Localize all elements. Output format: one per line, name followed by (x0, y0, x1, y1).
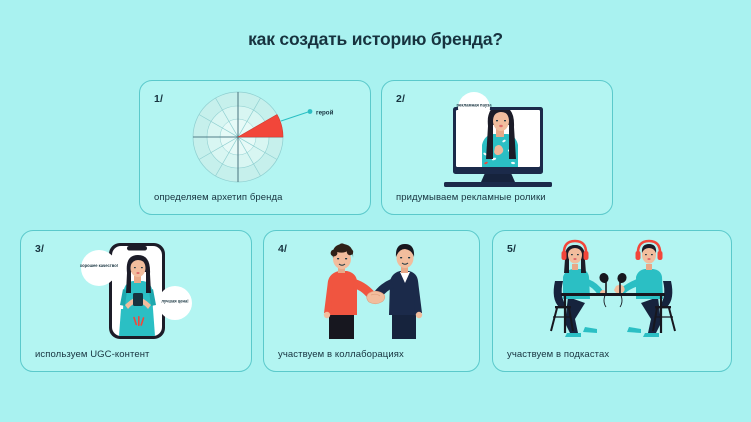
reviewer-skirt (119, 309, 155, 336)
annotation-connector-line (281, 112, 308, 121)
right-trousers (392, 313, 416, 339)
left-host-earcup-a (562, 251, 567, 260)
card-step-3[interactable]: 3/ (20, 230, 252, 372)
speech-bubble-quality-text: хорошее качество! (80, 263, 118, 268)
speech-bubble-line1: рекламная пауза (456, 103, 492, 108)
monitor-stand-neck (481, 173, 515, 182)
left-host-neck (572, 264, 578, 270)
left-hair-curl-c (338, 243, 345, 250)
right-host-earcup-a (636, 251, 641, 260)
left-host-shoe-b (583, 327, 597, 333)
left-hair-curl-b (347, 249, 353, 255)
smartphone-ugc-illustration: хорошее качество! лучшая цена! (21, 231, 253, 349)
card-step-1[interactable]: 1/ (139, 80, 371, 215)
monitor-stand-base (444, 182, 552, 187)
card-step-4[interactable]: 4/ (263, 230, 480, 372)
table-top (561, 293, 665, 296)
podcast-host-right (614, 241, 663, 337)
left-host-shoe-a (565, 333, 581, 337)
phone-notch (127, 246, 147, 251)
right-host-legs (641, 297, 661, 335)
speech-bubble-quality (81, 250, 117, 286)
left-trousers (329, 313, 354, 339)
podcast-host-left (562, 241, 607, 337)
annotation-label: герой (316, 110, 334, 117)
left-host-mouth (573, 258, 576, 260)
card-caption: определяем архетип бренда (154, 192, 283, 203)
card-caption: участвуем в подкастах (507, 349, 609, 360)
card-step-2[interactable]: 2/ (381, 80, 613, 215)
card-caption: используем UGC-контент (35, 349, 150, 360)
right-host-neck (646, 264, 652, 270)
page-title: как создать историю бренда? (0, 29, 751, 50)
card-caption: придумываем рекламные ролики (396, 192, 546, 203)
person-left (324, 243, 377, 339)
speech-bubble (458, 92, 490, 124)
right-host-earcup-b (658, 251, 663, 260)
right-host-mouth (647, 258, 650, 260)
person-right (372, 244, 422, 339)
left-hand-down (324, 312, 330, 318)
presenter-mouth (499, 125, 503, 127)
right-hand-down (416, 312, 422, 318)
handshake-illustration (264, 231, 481, 349)
podcast-illustration (493, 231, 733, 349)
left-host-legs (565, 297, 585, 335)
infographic-page: как создать историю бренда? 1/ (0, 0, 751, 422)
reviewer-mouth (136, 272, 139, 274)
held-phone (133, 293, 143, 306)
left-hair-curl-a (331, 250, 338, 257)
archetype-wheel-illustration: герой (140, 81, 372, 193)
right-host-shoe-a (643, 333, 659, 337)
handshake-hands (367, 291, 385, 304)
reviewer-neck (134, 276, 141, 283)
right-host-shoe-b (627, 327, 641, 333)
card-step-5[interactable]: 5/ (492, 230, 732, 372)
speech-bubble-price-text: лучшая цена! (161, 299, 188, 304)
annotation-dot (308, 109, 313, 114)
monitor-presenter-illustration: рекламная пауза (382, 81, 614, 193)
card-caption: участвуем в коллаборациях (278, 349, 404, 360)
left-host-earcup-b (584, 251, 589, 260)
